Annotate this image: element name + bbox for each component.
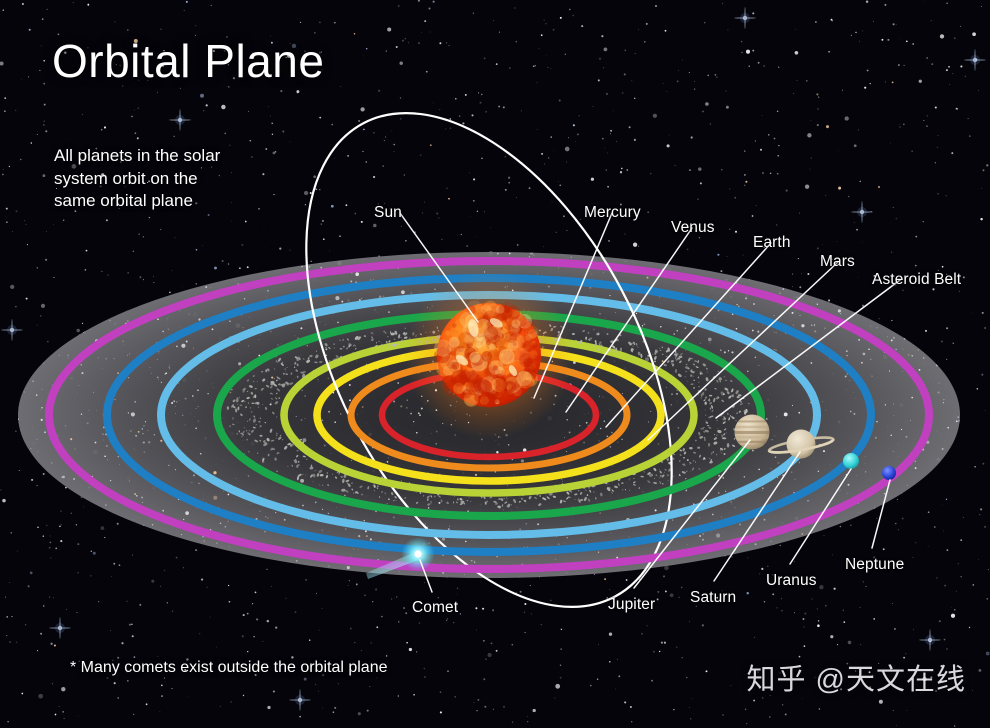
label-mars: Mars xyxy=(820,254,855,270)
label-neptune: Neptune xyxy=(845,557,904,573)
label-sun: Sun xyxy=(374,205,402,221)
solar-system-scene xyxy=(0,0,990,728)
page-title: Orbital Plane xyxy=(52,38,324,84)
planet-neptune xyxy=(882,466,896,480)
label-saturn: Saturn xyxy=(690,590,736,606)
sun-body xyxy=(405,271,573,439)
label-mercury: Mercury xyxy=(584,205,641,221)
subtitle-text: All planets in the solar system orbit on… xyxy=(54,145,220,213)
label-uranus: Uranus xyxy=(766,573,817,589)
label-asteroid-belt: Asteroid Belt xyxy=(872,272,961,288)
label-comet: Comet xyxy=(412,600,458,616)
planet-uranus xyxy=(843,453,859,469)
planet-jupiter xyxy=(735,415,770,450)
label-earth: Earth xyxy=(753,235,791,251)
watermark: 知乎 @天文在线 xyxy=(747,656,967,698)
footnote-text: * Many comets exist outside the orbital … xyxy=(70,659,388,677)
label-venus: Venus xyxy=(671,220,715,236)
orbital-plane-diagram: Orbital Plane All planets in the solar s… xyxy=(0,0,990,728)
label-jupiter: Jupiter xyxy=(608,597,655,613)
